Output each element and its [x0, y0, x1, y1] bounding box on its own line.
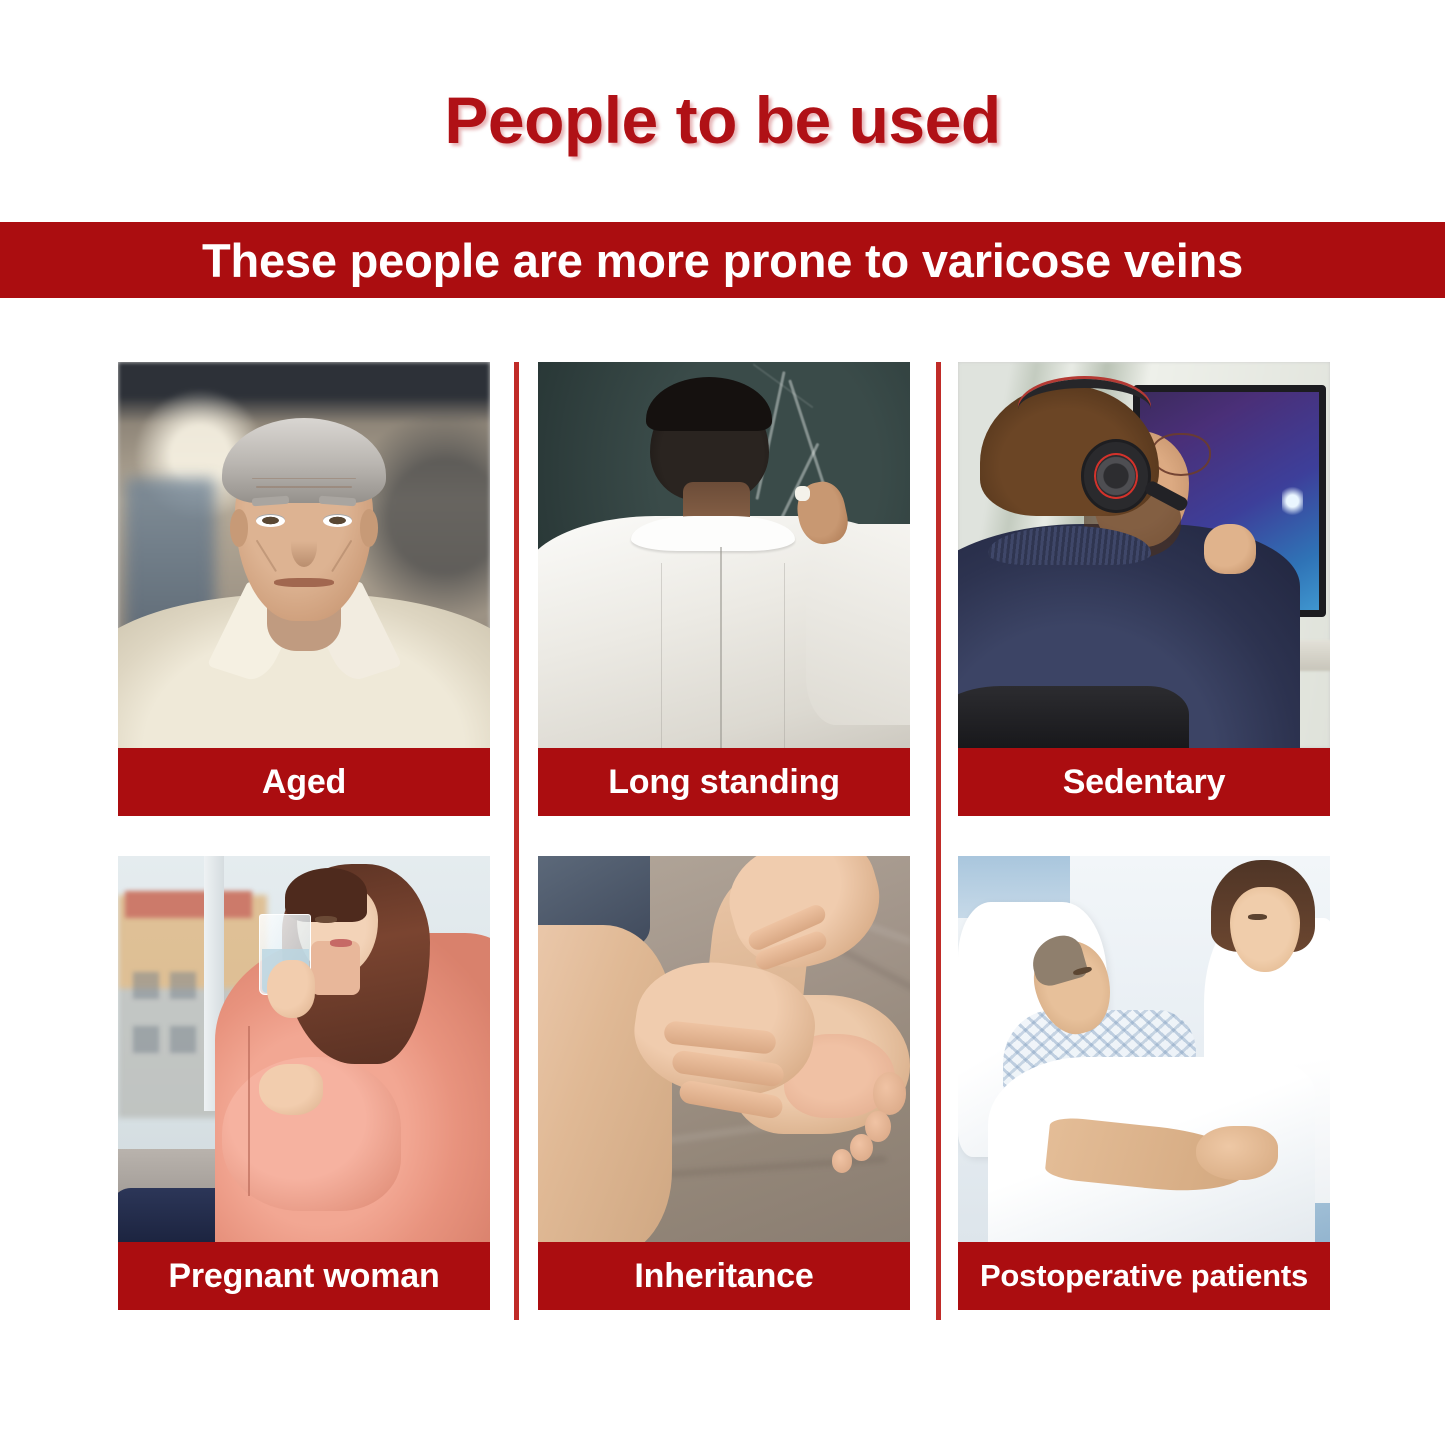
caption-bar-pregnant-woman: Pregnant woman — [118, 1242, 490, 1310]
category-card-postoperative-patients[interactable]: Postoperative patients — [958, 856, 1330, 1310]
caption-text-postoperative-patients: Postoperative patients — [980, 1258, 1308, 1294]
photo-inheritance — [538, 856, 910, 1242]
category-grid: Aged — [118, 362, 1330, 1320]
caption-bar-postoperative-patients: Postoperative patients — [958, 1242, 1330, 1310]
photo-postoperative-patients — [958, 856, 1330, 1242]
photo-long-standing — [538, 362, 910, 748]
headline-banner-text: These people are more prone to varicose … — [202, 233, 1243, 288]
caption-text-aged: Aged — [262, 763, 346, 802]
page-title: People to be used — [0, 86, 1445, 155]
caption-bar-inheritance: Inheritance — [538, 1242, 910, 1310]
photo-pregnant-woman — [118, 856, 490, 1242]
caption-text-pregnant-woman: Pregnant woman — [168, 1257, 439, 1296]
category-card-long-standing[interactable]: Long standing — [538, 362, 910, 816]
caption-bar-sedentary: Sedentary — [958, 748, 1330, 816]
photo-aged — [118, 362, 490, 748]
category-card-aged[interactable]: Aged — [118, 362, 490, 816]
caption-text-inheritance: Inheritance — [634, 1257, 813, 1296]
category-card-sedentary[interactable]: Sedentary — [958, 362, 1330, 816]
caption-text-sedentary: Sedentary — [1063, 763, 1226, 802]
photo-sedentary — [958, 362, 1330, 748]
category-card-inheritance[interactable]: Inheritance — [538, 856, 910, 1310]
caption-bar-long-standing: Long standing — [538, 748, 910, 816]
category-card-pregnant-woman[interactable]: Pregnant woman — [118, 856, 490, 1310]
infographic-page: People to be used These people are more … — [0, 0, 1445, 1445]
caption-text-long-standing: Long standing — [608, 763, 840, 802]
headline-banner: These people are more prone to varicose … — [0, 222, 1445, 298]
caption-bar-aged: Aged — [118, 748, 490, 816]
